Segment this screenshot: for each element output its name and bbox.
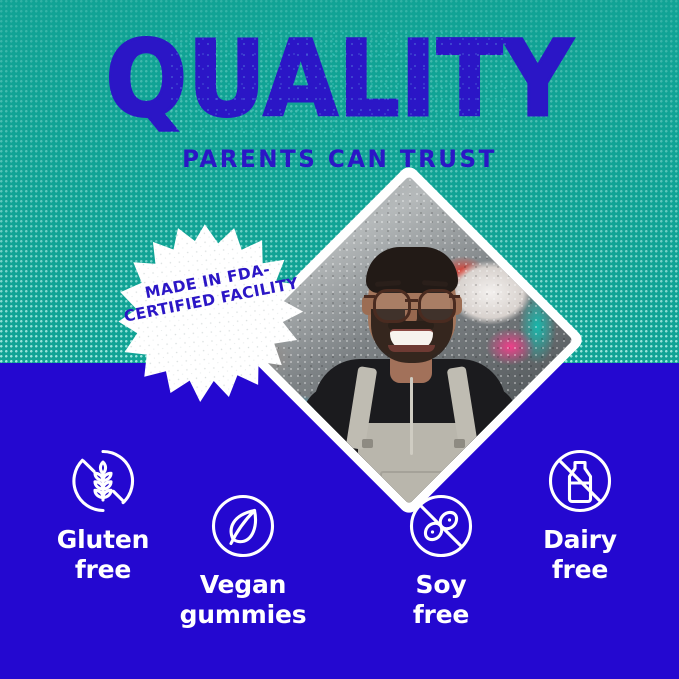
feature-label: Gluten free [23, 525, 183, 585]
person-strap-buckle-right [454, 439, 465, 448]
person-eyeglasses-temple-right [449, 295, 460, 298]
feature-gluten-free: Gluten free [23, 447, 183, 585]
person-tshirt-seam [410, 377, 413, 455]
page-title: QUALITY [27, 26, 652, 132]
feature-vegan-gummies: Vegan gummies [163, 492, 323, 630]
feature-label: Dairy free [500, 525, 660, 585]
feature-soy-free: Soy free [361, 492, 521, 630]
person-eyeglasses-left-lens [373, 289, 411, 323]
feature-dairy-free: Dairy free [500, 447, 660, 585]
person-strap-buckle-left [362, 439, 373, 448]
wheat-no-icon [69, 447, 137, 515]
quality-promo-poster: QUALITY PARENTS CAN TRUST [0, 0, 679, 679]
page-subtitle: PARENTS CAN TRUST [14, 145, 666, 173]
milk-bottle-no-icon [546, 447, 614, 515]
person-eyeglasses-temple-left [364, 295, 375, 298]
feature-label: Soy free [361, 570, 521, 630]
person-eyeglasses-bridge [405, 299, 418, 302]
leaf-icon [209, 492, 277, 560]
soybean-no-icon [407, 492, 475, 560]
fda-certified-badge: MADE IN FDA-CERTIFIED FACILITY [112, 216, 310, 411]
person-lower-lip [388, 345, 435, 352]
feature-label: Vegan gummies [163, 570, 323, 630]
